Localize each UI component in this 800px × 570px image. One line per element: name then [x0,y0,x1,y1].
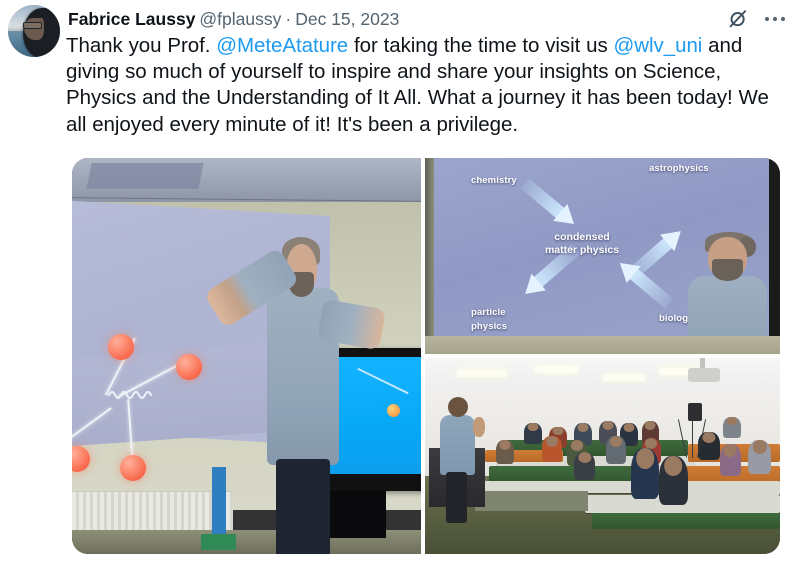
media-image-bottom-right[interactable] [425,358,780,554]
ceiling-light-2 [535,366,578,373]
grok-actions-icon[interactable] [726,7,750,31]
audience-member [542,436,562,461]
slide-label-particle-physics-line1: particle [471,307,506,319]
avatar-glasses [23,22,42,29]
header-action-group [726,7,788,31]
author-handle[interactable]: @fplaussy [199,9,281,29]
head [645,438,657,448]
post-date[interactable]: Dec 15, 2023 [295,9,399,29]
diagram-node-2 [176,354,202,380]
head [578,452,591,463]
audience-member-front-right [659,456,687,505]
head [636,448,654,468]
head [610,436,622,447]
diagram-node-1 [108,334,134,360]
bottom-right-speaker [436,397,482,522]
tweet-card: Fabrice Laussy@fplaussy·Dec 15, 2023 Tha… [0,0,800,570]
more-options-icon[interactable] [762,9,788,29]
head [624,423,635,432]
more-dot-1 [765,17,769,21]
diagram-node-4 [120,455,146,481]
head [553,427,564,436]
text-part-1: Thank you Prof. [66,34,216,57]
bottom-right-speaker-body [440,415,475,475]
tweet-text: Thank you Prof. @MeteAtature for taking … [66,33,782,138]
left-speaker [229,237,386,554]
head [577,423,588,432]
centre-line-2: matter physics [545,244,619,256]
head [602,421,613,430]
media-grid: chemistry astrophysics particle physics … [72,158,780,554]
bottom-right-speaker-head [448,397,468,417]
desk-front-panel [475,491,589,511]
ceiling-projector [688,368,720,382]
camera-tripod [682,419,702,458]
slide-label-chemistry: chemistry [471,175,517,187]
audience-member [606,436,626,463]
audience-member-camera-operator [723,417,741,439]
ceiling-light-1 [457,370,507,377]
slide-left-edge [425,158,434,354]
more-dot-2 [773,17,777,21]
left-monitor-diagram-node [387,404,400,417]
more-dot-3 [781,17,785,21]
ceiling-light-3 [603,374,646,381]
avatar[interactable] [8,5,60,57]
head [571,440,583,450]
media-image-left[interactable] [72,158,421,554]
audience-member [574,452,595,479]
text-part-2: for taking the time to visit us [348,34,613,57]
audience-member [748,440,771,473]
separator-dot: · [285,9,291,29]
bench-row-front [592,513,780,529]
tripod-leg-2 [692,419,693,458]
left-ceiling-panel [87,163,204,189]
audience-member [524,423,542,445]
mention-meteatature[interactable]: @MeteAtature [216,34,348,57]
head [724,444,737,457]
head [645,421,656,430]
head [528,423,539,432]
head [702,432,715,443]
head [665,456,683,476]
slide-label-particle-physics-line2: physics [471,321,507,333]
media-image-top-right[interactable]: chemistry astrophysics particle physics … [425,158,780,354]
audience-member [496,440,514,464]
head [727,417,738,426]
author-line: Fabrice Laussy@fplaussy·Dec 15, 2023 [68,8,399,30]
mention-wlv-uni[interactable]: @wlv_uni [614,34,703,57]
audience-member-front-left [631,448,659,499]
author-display-name[interactable]: Fabrice Laussy [68,9,195,29]
left-radiator [72,491,233,536]
slide-bottom-ledge [425,336,780,354]
head [499,440,510,449]
diagram-squiggle-boson [108,388,156,402]
desk-row-right [674,481,781,495]
slide-label-condensed-matter-physics: condensed matter physics [543,231,621,257]
centre-line-1: condensed [554,231,609,243]
slide-label-astrophysics: astrophysics [649,163,709,175]
video-camera [688,403,702,421]
audience-member [720,444,741,475]
bottom-right-speaker-legs [446,472,467,522]
head [752,440,766,453]
head [546,436,558,446]
left-speaker-legs [276,459,329,554]
